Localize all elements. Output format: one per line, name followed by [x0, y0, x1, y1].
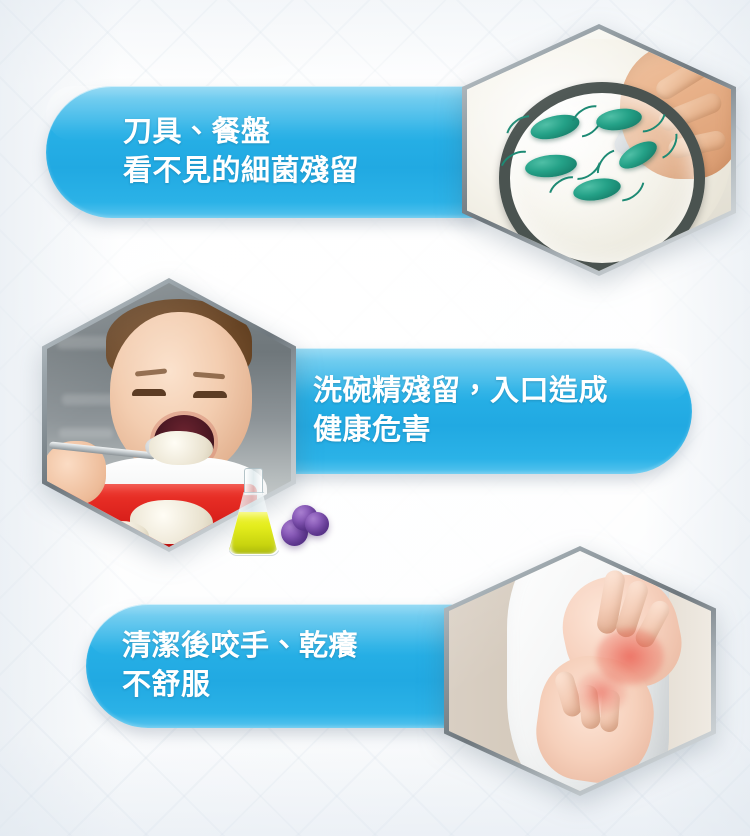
banner-text-detergent-residue: 洗碗精殘留，入口造成 健康危害 [268, 372, 608, 450]
banner-detergent-residue: 洗碗精殘留，入口造成 健康危害 [268, 348, 692, 474]
baby-eye-right [193, 391, 227, 398]
chemistry-flask [222, 468, 284, 556]
skin-irritation-red-patch-2 [575, 671, 627, 714]
banner-knife-plate-bacteria: 刀具、餐盤 看不見的細菌殘留 [46, 86, 478, 218]
infographic-poster: 刀具、餐盤 看不見的細菌殘留 [0, 0, 750, 836]
food-on-spoon [149, 431, 212, 465]
baby-eye-left [132, 389, 166, 396]
itchy-hands-photo [449, 551, 711, 791]
bacteria-scene [467, 29, 731, 271]
bacterium-2 [595, 106, 643, 133]
flask-liquid [228, 512, 278, 554]
flask-neck [244, 468, 263, 495]
itchy-hands-scene [449, 551, 711, 791]
kitchen-blur-3 [59, 428, 113, 438]
hexagon-itchy-hands [444, 546, 716, 796]
purple-sphere-3 [305, 512, 329, 536]
banner-text-knife-plate-bacteria: 刀具、餐盤 看不見的細菌殘留 [46, 113, 359, 191]
banner-dry-itchy-hands: 清潔後咬手、乾癢 不舒服 [86, 604, 452, 728]
banner-text-dry-itchy-hands: 清潔後咬手、乾癢 不舒服 [86, 627, 358, 705]
bacteria-magnifier-photo [467, 29, 731, 271]
hexagon-bacteria-magnifier [462, 24, 736, 276]
